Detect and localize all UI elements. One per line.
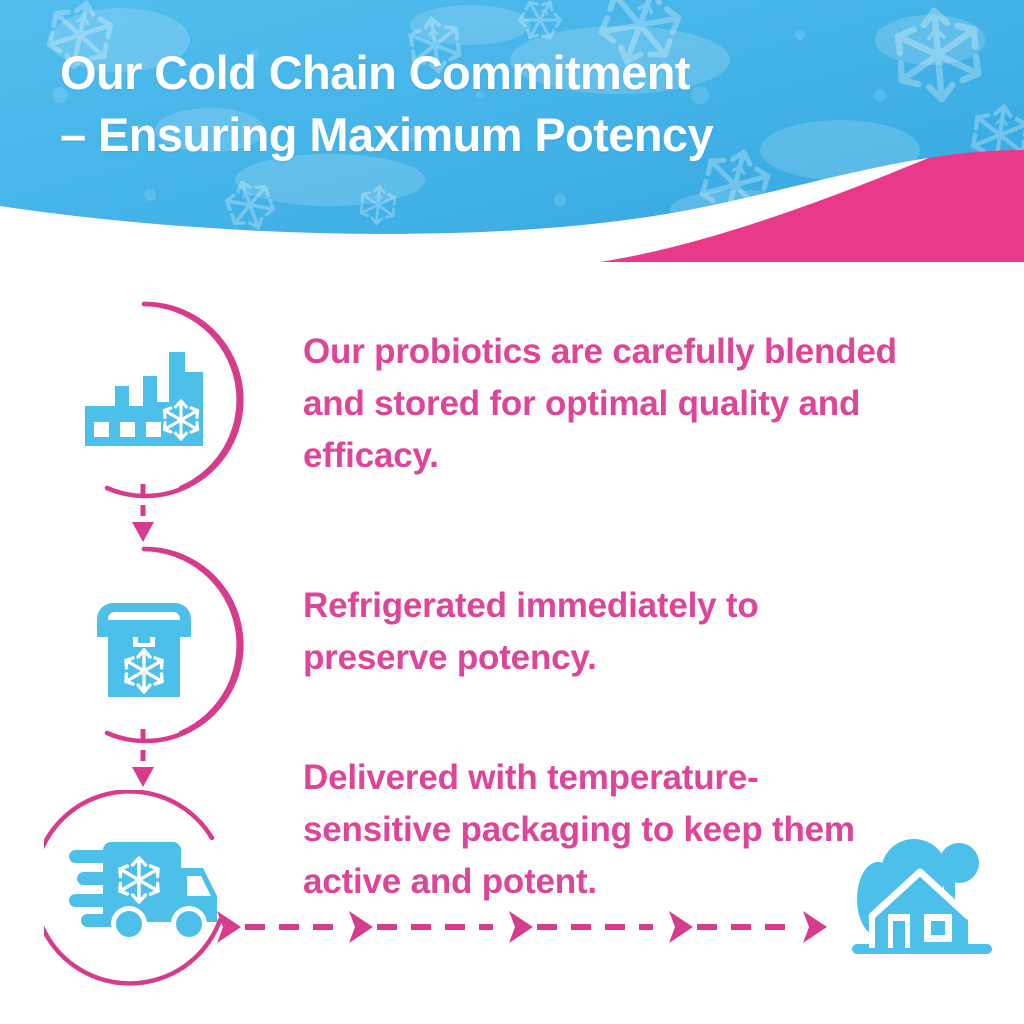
step-3-text: Delivered with temperature-sensitive pac… (303, 752, 903, 908)
factory-snowflake-icon (44, 300, 244, 500)
step-2-text: Refrigerated immediately to preserve pot… (303, 580, 903, 684)
delivery-truck-snowflake-icon (44, 790, 244, 990)
home-house-trees-icon (852, 836, 992, 981)
page-title-line-2: – Ensuring Maximum Potency (60, 104, 960, 166)
dashed-arrow-down-1 (126, 484, 160, 551)
step-3-circle (44, 790, 244, 990)
step-1-text: Our probiotics are carefully blended and… (303, 326, 903, 482)
step-1-circle (44, 300, 244, 500)
dashed-arrow-right-destination (205, 905, 830, 954)
cooler-box-snowflake-icon (44, 545, 244, 745)
dashed-arrow-down-2 (126, 729, 160, 796)
step-2-circle (44, 545, 244, 745)
page-title-line-1: Our Cold Chain Commitment (60, 46, 690, 99)
page-title: Our Cold Chain Commitment – Ensuring Max… (60, 42, 960, 166)
